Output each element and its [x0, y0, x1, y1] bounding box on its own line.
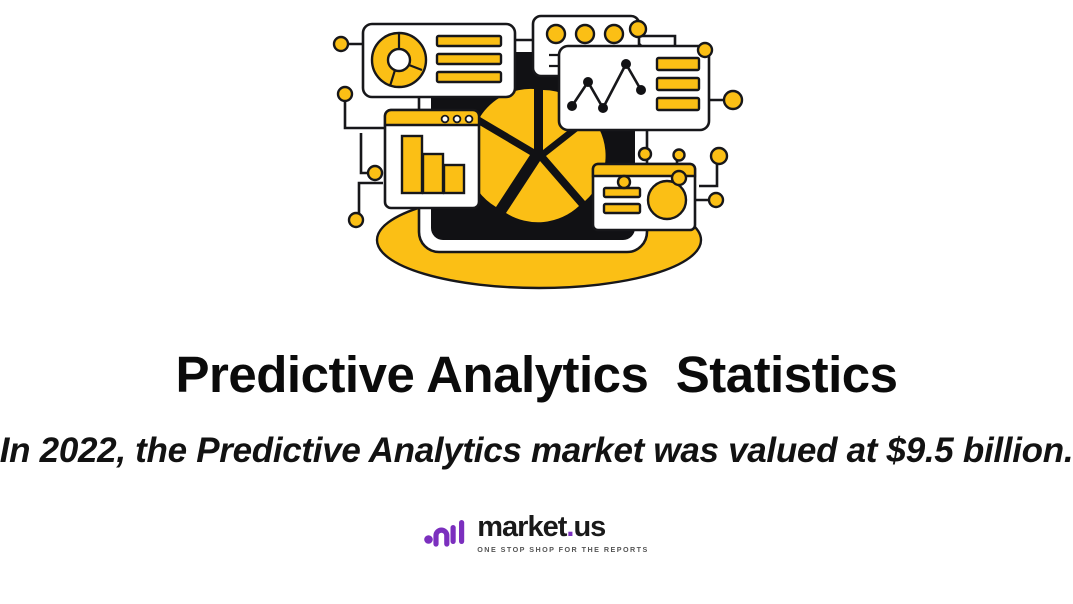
predictive-analytics-dashboard-illustration: .ln { fill:none; stroke:#17171a; stroke-…	[327, 8, 747, 294]
bar-chart-window-card	[385, 110, 479, 208]
hero-illustration: .ln { fill:none; stroke:#17171a; stroke-…	[0, 8, 1073, 296]
donut-chart-card	[363, 24, 515, 97]
logo-tagline: ONE STOP SHOP FOR THE REPORTS	[477, 545, 648, 554]
brand-logo[interactable]: market.us ONE STOP SHOP FOR THE REPORTS	[0, 512, 1073, 554]
logo-wordmark: market.us	[477, 512, 605, 542]
logo-wordmark-suffix: us	[573, 511, 605, 543]
logo-wordmark-primary: market	[477, 511, 566, 543]
line-chart-card	[559, 46, 709, 130]
market-us-logo-mark-icon	[424, 518, 468, 548]
page-subtitle: In 2022, the Predictive Analytics market…	[0, 427, 1073, 475]
page-title: Predictive Analytics Statistics	[0, 346, 1073, 404]
infographic-page: .ln { fill:none; stroke:#17171a; stroke-…	[0, 0, 1073, 604]
